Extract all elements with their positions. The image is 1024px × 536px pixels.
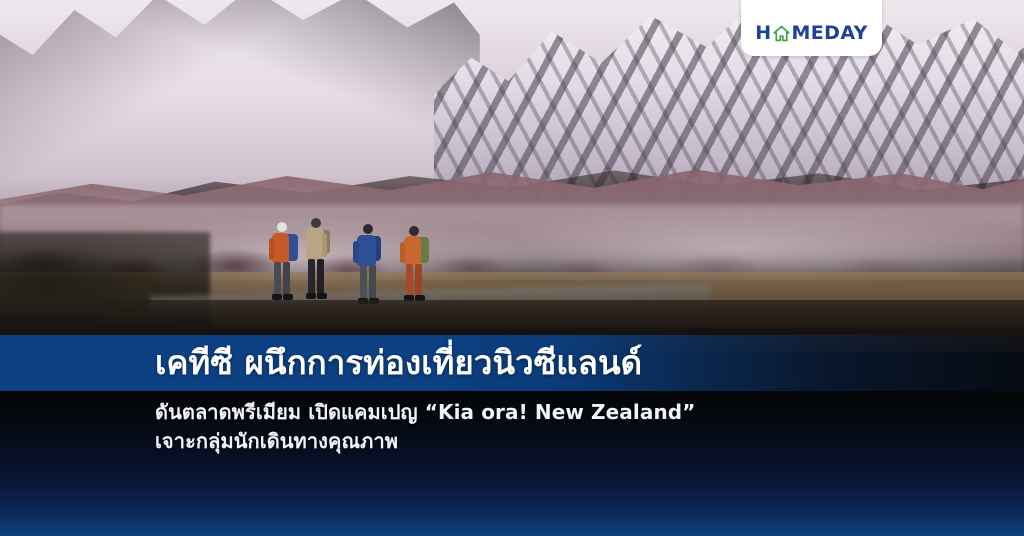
brand-prefix: H: [755, 24, 771, 43]
subline-line-2: เจาะกลุ่มนักเดินทางคุณภาพ: [155, 427, 695, 456]
logo-badge[interactable]: H MEDAY: [741, 0, 882, 56]
subline-line-1: ดันตลาดพรีเมียม เปิดแคมเปญ “Kia ora! New…: [155, 398, 695, 427]
subline-block: ดันตลาดพรีเมียม เปิดแคมเปญ “Kia ora! New…: [155, 398, 695, 456]
hiker-green-pack: [398, 226, 432, 310]
homeday-wordmark: H MEDAY: [755, 24, 868, 43]
hiker-orange-jacket: [266, 222, 300, 308]
hiker-blue-jacket: [352, 224, 386, 312]
headline-text: เคทีซี ผนึกการท่องเที่ยวนิวซีแลนด์: [155, 340, 642, 386]
campaign-banner: เคทีซี ผนึกการท่องเที่ยวนิวซีแลนด์ ดันตล…: [0, 0, 1024, 536]
hiker-beige-jacket: [300, 218, 334, 308]
brand-suffix: MEDAY: [792, 24, 868, 43]
house-icon: [772, 24, 791, 43]
